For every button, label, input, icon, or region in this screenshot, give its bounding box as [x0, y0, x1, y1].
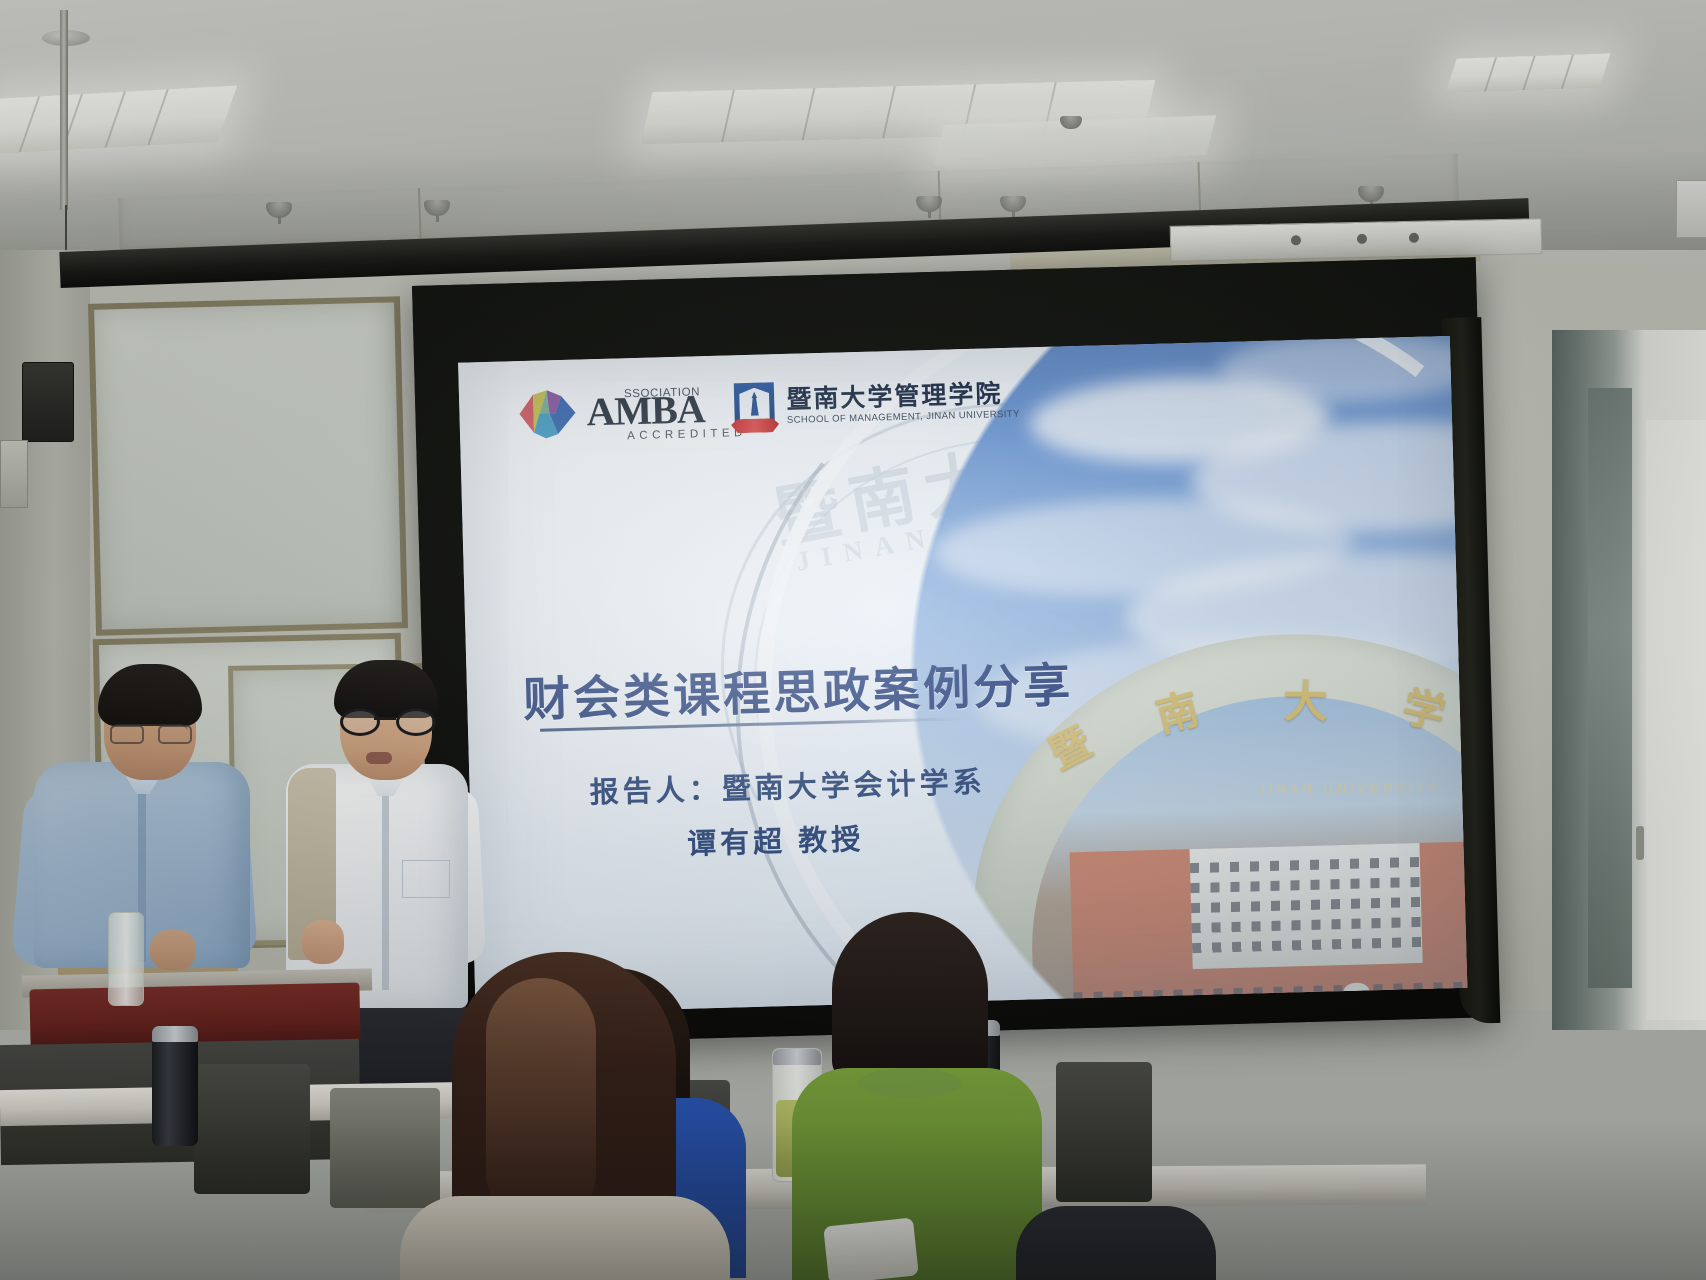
amba-diamond-icon: [517, 386, 580, 442]
door-glass-panel: [1588, 388, 1632, 988]
door-panel[interactable]: [1646, 420, 1706, 1020]
ceiling-light-panel: [1445, 53, 1610, 92]
eyeglasses-icon: [340, 708, 432, 730]
presenter-right-mouth: [366, 752, 392, 764]
amba-logo: SSOCIATION AMBA ACCREDITED: [517, 382, 706, 441]
presenter-left-hand: [150, 930, 196, 970]
shirt-pocket: [402, 860, 450, 898]
shirt-placket: [382, 790, 389, 990]
classroom-photo: 暨南大学 JINAN UNIVERSITY: [0, 0, 1706, 1280]
audience-member-collar: [858, 1068, 962, 1098]
slide-presenter-name: 谭有超 教授: [687, 816, 865, 863]
wall-switch-plate[interactable]: [0, 440, 28, 508]
ceiling-hanger-rod: [60, 10, 68, 210]
amba-association-text: SSOCIATION: [624, 387, 700, 401]
jinan-seal-icon: [730, 382, 779, 433]
jinan-university-logo: 暨南大学管理学院 SCHOOL OF MANAGEMENT, JINAN UNI…: [730, 376, 1020, 434]
amba-wordmark: SSOCIATION AMBA ACCREDITED: [586, 389, 705, 432]
foreground-shadow: [0, 1120, 1706, 1280]
air-vent: [1676, 180, 1706, 238]
water-bottle[interactable]: [108, 912, 144, 1006]
whiteboard: [88, 296, 408, 636]
eyeglasses-icon: [110, 724, 188, 741]
wall-speaker: [22, 362, 74, 442]
projected-slide: 暨南大学 JINAN UNIVERSITY: [458, 336, 1467, 1015]
presenter-right-hand: [302, 920, 344, 964]
audience-member-head: [832, 912, 988, 1084]
door-handle[interactable]: [1636, 826, 1644, 860]
